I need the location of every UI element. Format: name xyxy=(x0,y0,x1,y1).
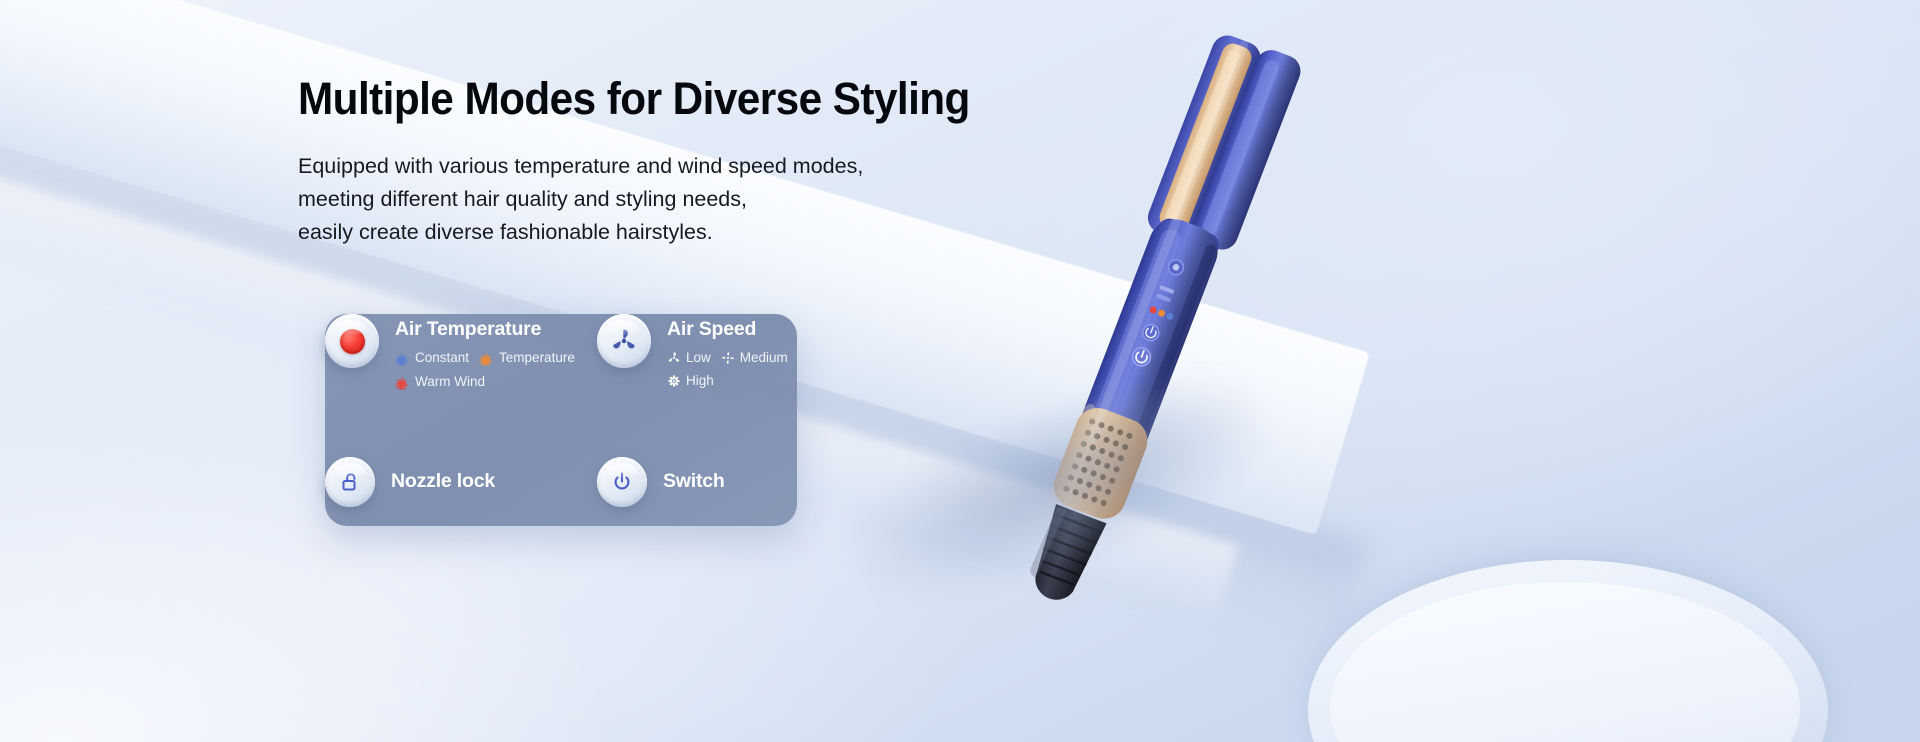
fan-four-blade-icon xyxy=(721,351,735,365)
option-low[interactable]: Low xyxy=(667,351,711,365)
option-constant[interactable]: Constant xyxy=(395,351,469,366)
red-dot-button-icon xyxy=(325,314,379,368)
feature-title-air-speed: Air Speed xyxy=(667,320,788,340)
option-high[interactable]: High xyxy=(667,374,714,388)
air-speed-options: Low xyxy=(667,351,788,388)
unlocked-padlock-icon xyxy=(325,457,375,507)
option-label-medium: Medium xyxy=(740,351,788,365)
swirl-icon xyxy=(395,375,410,390)
option-label-warm-wind: Warm Wind xyxy=(415,375,485,389)
fan-three-blade-icon xyxy=(667,351,681,365)
option-warm-wind[interactable]: Warm Wind xyxy=(395,375,485,390)
fan-multi-blade-icon xyxy=(667,374,681,388)
option-medium[interactable]: Medium xyxy=(721,351,788,365)
swirl-icon xyxy=(479,351,494,366)
feature-nozzle-lock[interactable]: Nozzle lock xyxy=(325,438,597,526)
option-label-low: Low xyxy=(686,351,711,365)
feature-title-switch: Switch xyxy=(663,472,725,492)
feature-title-nozzle-lock: Nozzle lock xyxy=(391,472,495,492)
swirl-icon xyxy=(395,351,410,366)
option-label-high: High xyxy=(686,374,714,388)
air-temperature-options: Constant Temperature xyxy=(395,351,575,390)
fan-button-icon xyxy=(597,314,651,368)
feature-card: Air Temperature Constant xyxy=(325,314,797,526)
option-temperature[interactable]: Temperature xyxy=(479,351,575,366)
red-indicator xyxy=(340,329,365,354)
hair-styler-product-photo xyxy=(840,0,1540,620)
product-feature-banner: Multiple Modes for Diverse Styling Equip… xyxy=(0,0,1920,742)
option-label-constant: Constant xyxy=(415,351,469,365)
power-icon xyxy=(597,457,647,507)
feature-air-speed[interactable]: Air Speed xyxy=(597,314,797,438)
feature-switch[interactable]: Switch xyxy=(597,438,797,526)
feature-air-temperature[interactable]: Air Temperature Constant xyxy=(325,314,597,438)
feature-title-air-temperature: Air Temperature xyxy=(395,320,575,340)
option-label-temperature: Temperature xyxy=(499,351,575,365)
